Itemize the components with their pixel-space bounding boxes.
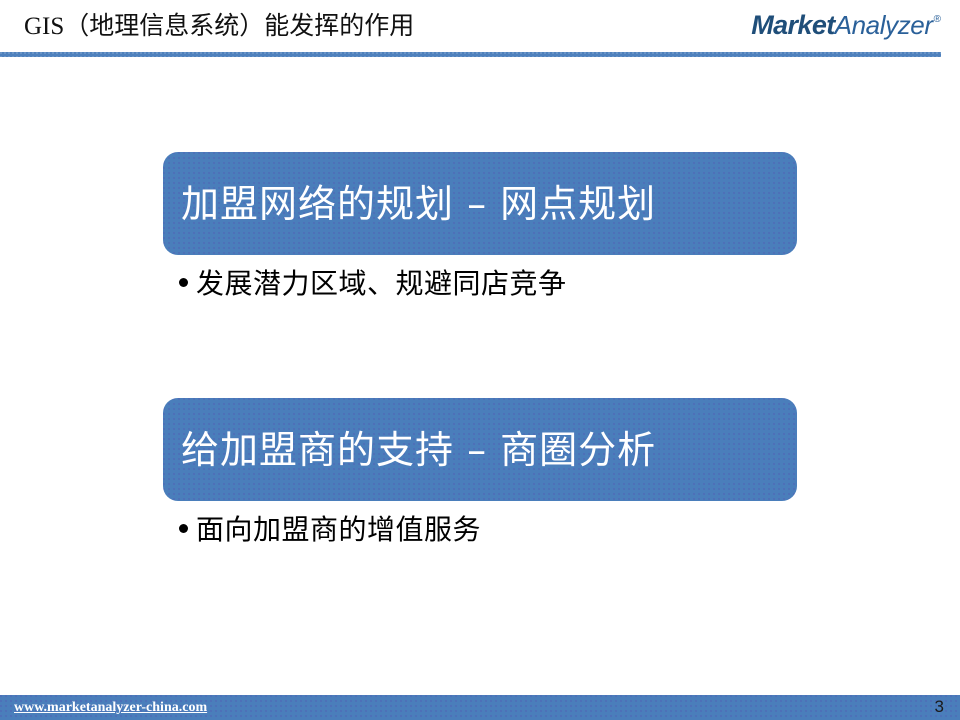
slide-body: 加盟网络的规划 – 网点规划 发展潜力区域、规避同店竞争 给加盟商的支持 – 商… <box>0 57 960 695</box>
slide-footer: www.marketanalyzer-china.com 3 <box>0 695 960 720</box>
content-group-2: 给加盟商的支持 – 商圈分析 面向加盟商的增值服务 <box>163 398 797 550</box>
bullet-item-1-label: 发展潜力区域、规避同店竞争 <box>196 264 567 304</box>
page-title: GIS（地理信息系统）能发挥的作用 <box>24 8 414 46</box>
page-number: 3 <box>935 696 944 718</box>
slide-header: GIS（地理信息系统）能发挥的作用 MarketAnalyzer® <box>0 0 960 52</box>
footer-website-link[interactable]: www.marketanalyzer-china.com <box>14 699 207 717</box>
brand-logo: MarketAnalyzer® <box>751 10 940 44</box>
bullet-dot-icon <box>179 278 188 287</box>
bullet-dot-icon <box>179 524 188 533</box>
bullet-item-2: 面向加盟商的增值服务 <box>163 510 797 550</box>
callout-box-1: 加盟网络的规划 – 网点规划 <box>163 152 797 255</box>
bullet-item-1: 发展潜力区域、规避同店竞争 <box>163 264 797 304</box>
callout-box-2-label: 给加盟商的支持 – 商圈分析 <box>181 427 656 473</box>
bullet-item-2-label: 面向加盟商的增值服务 <box>196 510 481 550</box>
registered-trademark-icon: ® <box>934 14 941 25</box>
slide-canvas: GIS（地理信息系统）能发挥的作用 MarketAnalyzer® 加盟网络的规… <box>0 0 960 720</box>
content-group-1: 加盟网络的规划 – 网点规划 发展潜力区域、规避同店竞争 <box>163 152 797 304</box>
brand-logo-market-text: Market <box>751 10 834 41</box>
callout-box-2: 给加盟商的支持 – 商圈分析 <box>163 398 797 501</box>
brand-logo-analyzer-text: Analyzer <box>835 10 933 41</box>
callout-box-1-label: 加盟网络的规划 – 网点规划 <box>181 181 656 227</box>
